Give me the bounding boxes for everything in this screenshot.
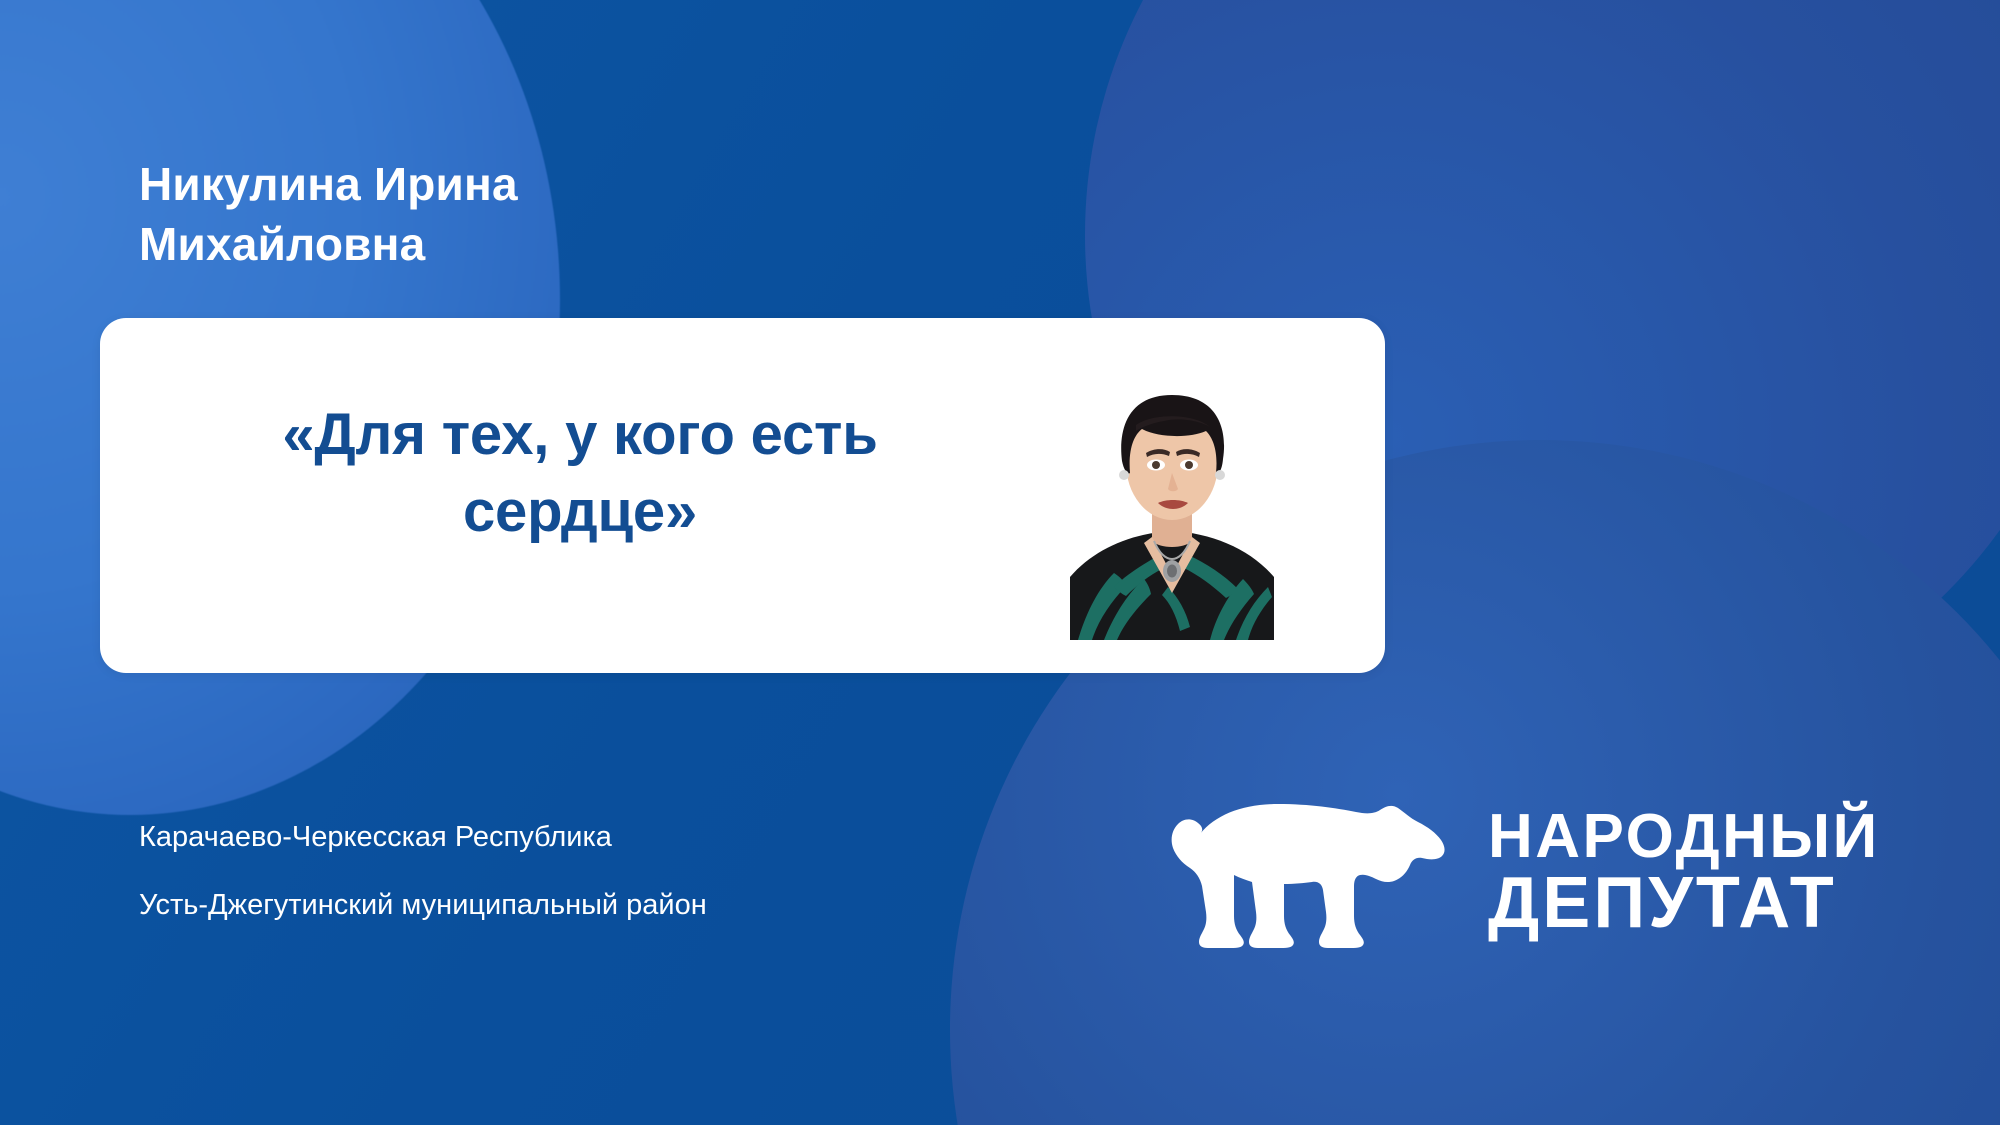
deputy-portrait-photo: [1060, 325, 1285, 640]
bear-icon: [1160, 790, 1450, 955]
quote-text: «Для тех, у кого есть сердце»: [140, 396, 1020, 550]
region-republic: Карачаево-Черкесская Республика: [139, 822, 707, 854]
brand-word-top: НАРОДНЫЙ: [1488, 807, 1880, 868]
quote-line1: «Для тех, у кого есть: [140, 396, 1020, 473]
deputy-name-line1: Никулина Ирина: [139, 155, 699, 215]
region-info: Карачаево-Черкесская Республика Усть-Дже…: [139, 822, 707, 922]
brand-logo-wordmark: НАРОДНЫЙ ДЕПУТАТ: [1488, 807, 1880, 938]
brand-word-bottom: ДЕПУТАТ: [1488, 868, 1880, 939]
brand-logo: НАРОДНЫЙ ДЕПУТАТ: [1160, 790, 1880, 955]
deputy-name-line2: Михайловна: [139, 215, 699, 275]
region-district: Усть-Джегутинский муниципальный район: [139, 890, 707, 922]
quote-line2: сердце»: [140, 473, 1020, 550]
portrait-illustration: [1060, 325, 1285, 640]
deputy-name: Никулина Ирина Михайловна: [139, 155, 699, 275]
bear-silhouette: [1160, 790, 1450, 955]
slide-canvas: Никулина Ирина Михайловна «Для тех, у ко…: [0, 0, 2000, 1125]
